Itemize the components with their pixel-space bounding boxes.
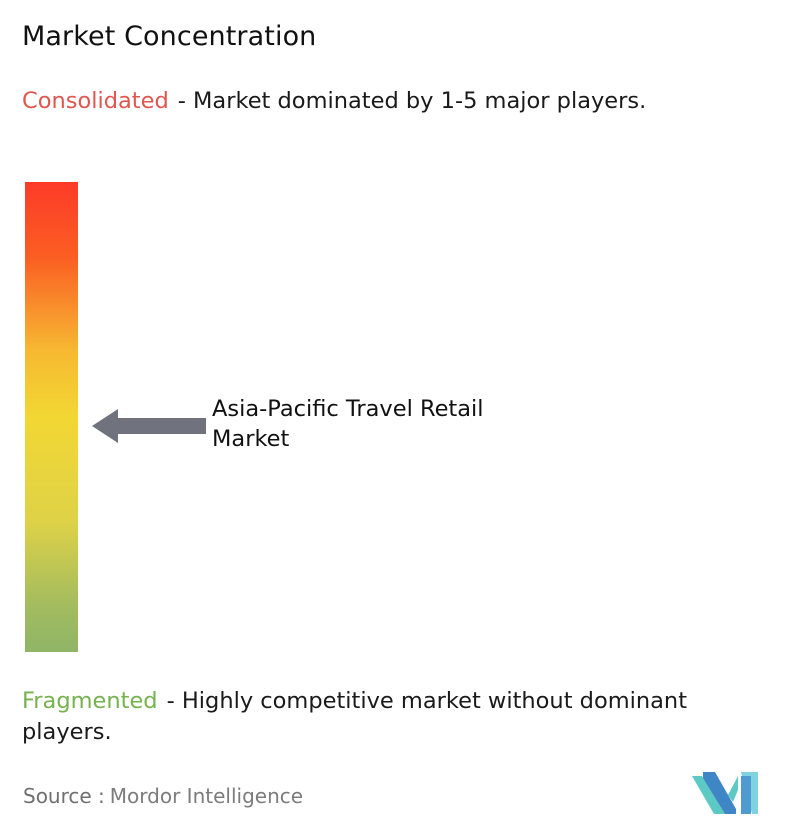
page-title: Market Concentration	[22, 20, 316, 54]
left-arrow-icon	[92, 407, 206, 445]
marker-label-line2: Market	[212, 426, 289, 452]
legend-fragmented: Fragmented- Highly competitive market wi…	[22, 686, 782, 748]
source-attribution: Source :Mordor Intelligence	[23, 783, 303, 809]
legend-description-consolidated: - Market dominated by 1-5 major players.	[178, 88, 647, 114]
marker-label: Asia-Pacific Travel Retail Market	[212, 394, 612, 454]
mordor-intelligence-logo-icon	[692, 770, 758, 815]
legend-term-fragmented: Fragmented	[22, 688, 158, 714]
legend-term-consolidated: Consolidated	[22, 88, 169, 114]
source-name: Mordor Intelligence	[105, 784, 303, 808]
chart-canvas: Market Concentration Consolidated- Marke…	[0, 0, 796, 834]
legend-consolidated: Consolidated- Market dominated by 1-5 ma…	[22, 86, 767, 117]
source-label: Source :	[23, 784, 105, 808]
market-concentration-scale-bar	[25, 182, 78, 652]
marker-label-line1: Asia-Pacific Travel Retail	[212, 396, 484, 422]
